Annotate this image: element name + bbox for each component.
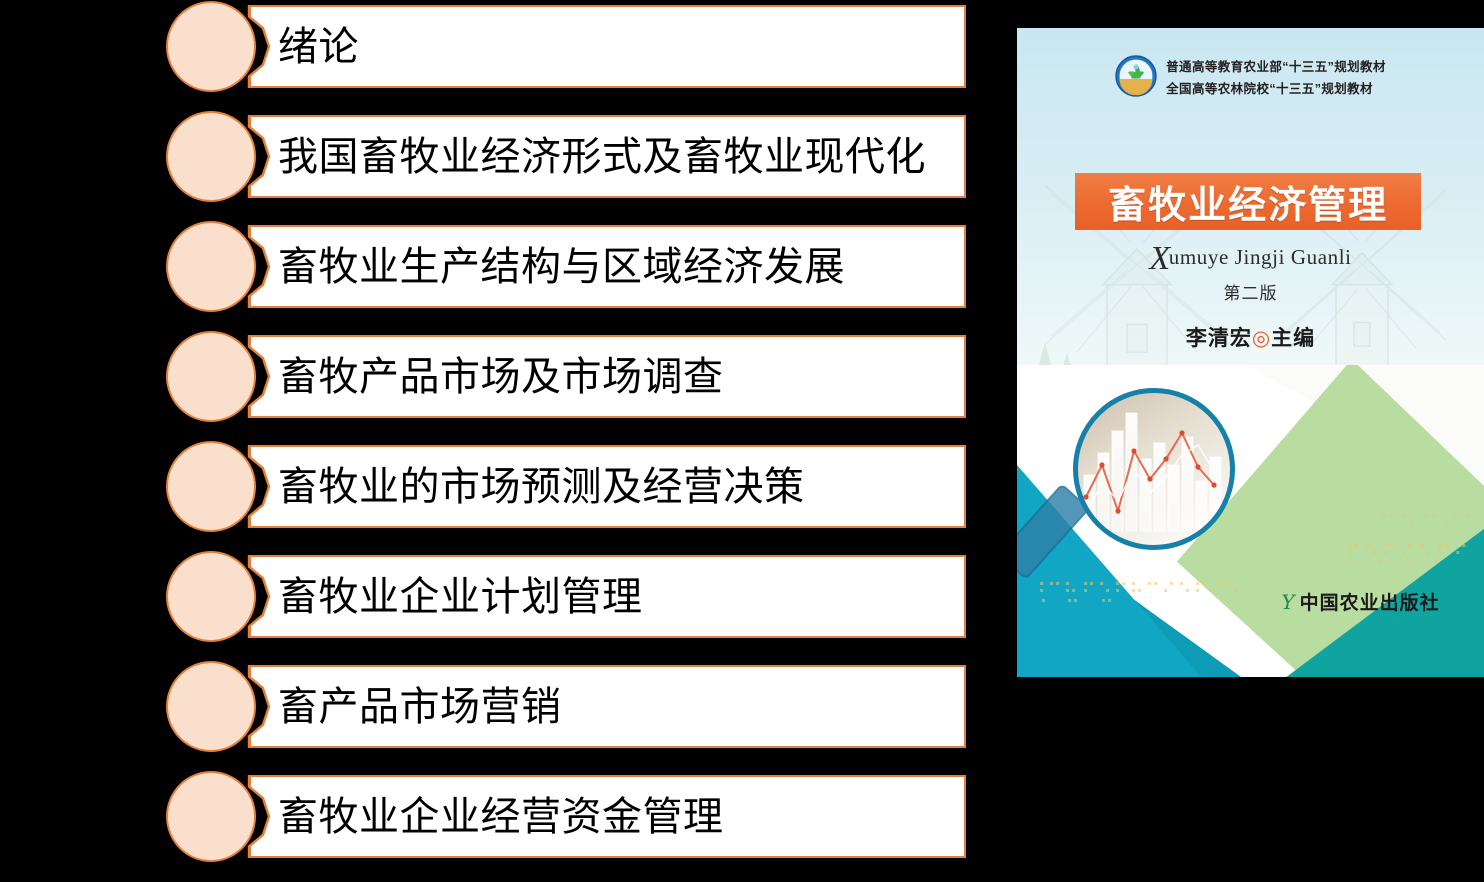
- chapter-row[interactable]: 畜牧业企业经营资金管理: [166, 771, 966, 862]
- cover-title-banner: 畜牧业经济管理: [1075, 173, 1421, 230]
- chapter-row[interactable]: 我国畜牧业经济形式及畜牧业现代化: [166, 111, 966, 202]
- chapter-bullet-circle: [166, 331, 256, 422]
- chapter-label: 绪论: [278, 5, 958, 88]
- cover-edition: 第二版: [1017, 279, 1484, 304]
- publisher-name: 中国农业出版社: [1300, 588, 1440, 615]
- magnifier-lens: [1073, 388, 1235, 550]
- chapter-label: 畜牧业生产结构与区域经济发展: [278, 225, 958, 308]
- braille-dots-right: [1344, 541, 1475, 567]
- cover-header-line-2: 全国高等农林院校“十三五”规划教材: [1166, 78, 1386, 97]
- chapter-bullet-circle: [166, 441, 256, 532]
- braille-dots-top-right: [1377, 512, 1480, 528]
- chapter-bullet-circle: [166, 221, 256, 312]
- chapter-row[interactable]: 畜牧业生产结构与区域经济发展: [166, 221, 966, 312]
- chapter-label: 畜牧业的市场预测及经营决策: [278, 445, 958, 528]
- cover-author-name: 李清宏: [1186, 327, 1252, 350]
- chapter-row[interactable]: 畜牧产品市场及市场调查: [166, 331, 966, 422]
- cover-header-line-1: 普通高等教育农业部“十三五”规划教材: [1166, 56, 1386, 75]
- braille-dots-left: [1036, 578, 1260, 606]
- chapter-bullet-circle: [166, 1, 256, 92]
- cover-author-separator: ◎: [1252, 327, 1271, 350]
- magnifier-graphic: [1073, 388, 1235, 550]
- publisher-logo-icon: Y: [1281, 592, 1294, 612]
- chapter-list: 绪论我国畜牧业经济形式及畜牧业现代化畜牧业生产结构与区域经济发展畜牧产品市场及市…: [0, 0, 990, 882]
- cover-author-line: 李清宏◎主编: [1017, 322, 1484, 352]
- cover-author-role: 主编: [1271, 327, 1315, 350]
- book-cover-image: 普通高等教育农业部“十三五”规划教材 全国高等农林院校“十三五”规划教材 畜牧业…: [1017, 28, 1484, 677]
- cover-publisher: Y 中国农业出版社: [1281, 588, 1439, 615]
- chapter-row[interactable]: 畜产品市场营销: [166, 661, 966, 752]
- chapter-bullet-circle: [166, 661, 256, 752]
- cover-header: 普通高等教育农业部“十三五”规划教材 全国高等农林院校“十三五”规划教材: [1017, 55, 1484, 97]
- chapter-label: 我国畜牧业经济形式及畜牧业现代化: [278, 115, 958, 198]
- cover-title: 畜牧业经济管理: [1108, 174, 1388, 229]
- chapter-label: 畜牧产品市场及市场调查: [278, 335, 958, 418]
- chapter-bullet-circle: [166, 111, 256, 202]
- chapter-row[interactable]: 畜牧业的市场预测及经营决策: [166, 441, 966, 532]
- chapter-row[interactable]: 绪论: [166, 1, 966, 92]
- chapter-row[interactable]: 畜牧业企业计划管理: [166, 551, 966, 642]
- chapter-label: 畜产品市场营销: [278, 665, 958, 748]
- chapter-bullet-circle: [166, 551, 256, 642]
- cover-pinyin-rest: umuye Jingji Guanli: [1169, 245, 1352, 269]
- cover-pinyin-initial: X: [1149, 240, 1170, 277]
- chapter-label: 畜牧业企业计划管理: [278, 555, 958, 638]
- cover-pinyin: Xumuye Jingji Guanli: [1017, 240, 1484, 278]
- chapter-label: 畜牧业企业经营资金管理: [278, 775, 958, 858]
- agriculture-ministry-emblem-icon: [1115, 55, 1157, 97]
- chapter-bullet-circle: [166, 771, 256, 862]
